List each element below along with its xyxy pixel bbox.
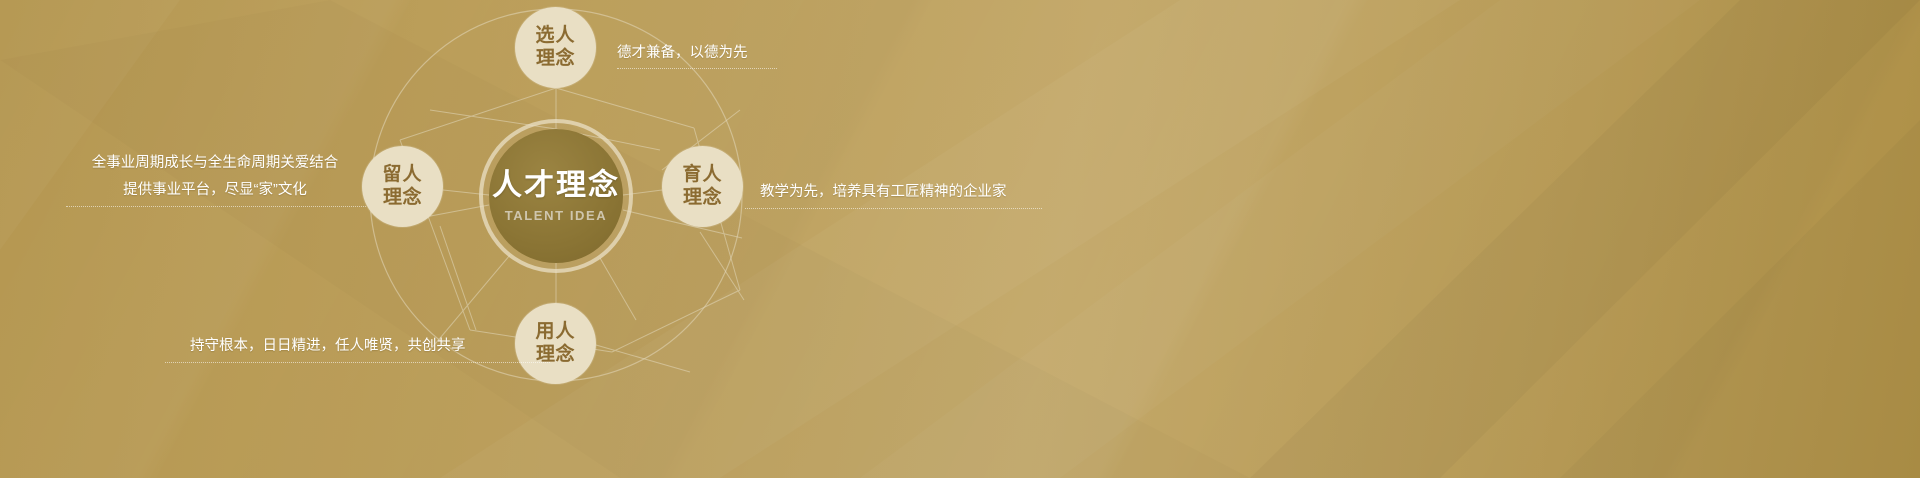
node-develop-line2: 理念 xyxy=(683,187,722,209)
node-retain-line1: 留人 xyxy=(382,164,422,186)
node-select-people[interactable]: 选人 理念 xyxy=(515,7,596,88)
talent-idea-banner: 人才理念 TALENT IDEA 选人 理念 育人 理念 用人 理念 留人 理念… xyxy=(0,0,1920,478)
caption-use-rule xyxy=(165,362,550,363)
center-title-en: TALENT IDEA xyxy=(505,209,608,222)
caption-retain-people: 全事业周期成长与全生命周期关爱结合 提供事业平台，尽显“家”文化 xyxy=(80,150,350,204)
caption-select-rule xyxy=(617,68,777,69)
node-select-line2: 理念 xyxy=(536,48,575,70)
center-node: 人才理念 TALENT IDEA xyxy=(489,129,623,263)
caption-retain-line2: 提供事业平台，尽显“家”文化 xyxy=(80,177,350,204)
node-retain-line2: 理念 xyxy=(383,187,422,209)
caption-retain-line1: 全事业周期成长与全生命周期关爱结合 xyxy=(80,150,350,177)
caption-retain-rule xyxy=(66,206,366,207)
caption-select-people: 德才兼备，以德为先 xyxy=(617,40,748,67)
node-select-line1: 选人 xyxy=(535,25,575,47)
node-use-line1: 用人 xyxy=(535,321,575,343)
node-use-people[interactable]: 用人 理念 xyxy=(515,303,596,384)
node-retain-people[interactable]: 留人 理念 xyxy=(362,146,443,227)
caption-develop-people: 教学为先，培养具有工匠精神的企业家 xyxy=(760,179,1007,206)
caption-use-people: 持守根本，日日精进，任人唯贤，共创共享 xyxy=(190,333,466,360)
caption-develop-rule xyxy=(745,208,1042,209)
node-develop-line1: 育人 xyxy=(682,164,722,186)
node-develop-people[interactable]: 育人 理念 xyxy=(662,146,743,227)
background-rays xyxy=(0,0,1920,478)
connection-web xyxy=(0,0,1920,478)
center-title-cn: 人才理念 xyxy=(492,171,620,201)
